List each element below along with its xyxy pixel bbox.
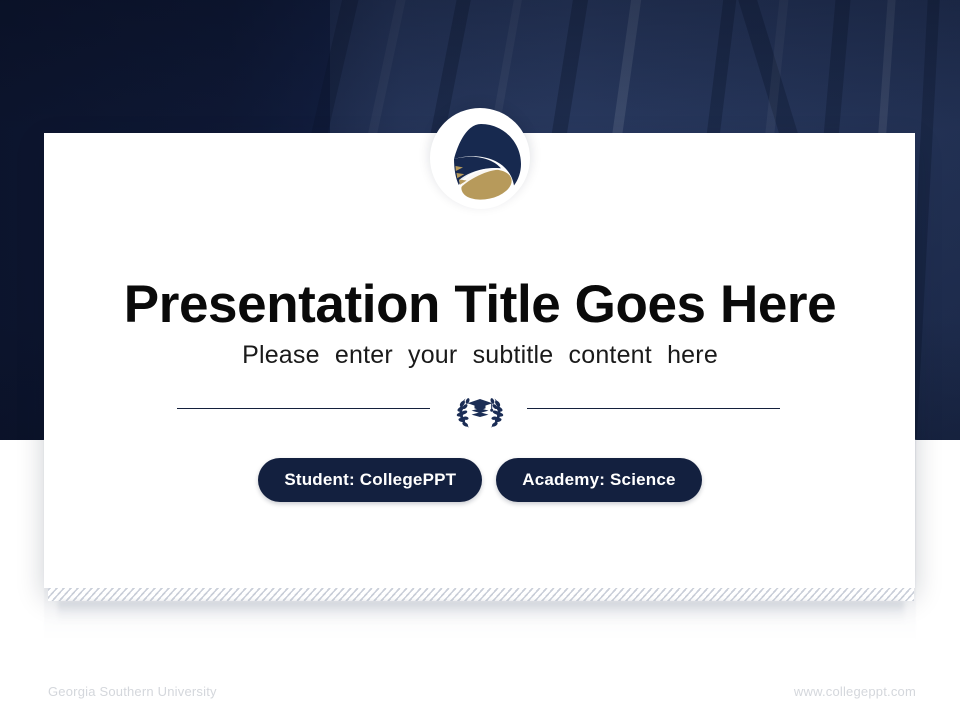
page-subtitle: Please enter your subtitle content here — [0, 340, 960, 370]
info-pill-group: Student: CollegePPT Academy: Science — [0, 458, 960, 502]
georgia-southern-eagle-logo — [435, 118, 527, 210]
hatched-accent-strip — [48, 588, 914, 601]
divider-line-right — [527, 408, 780, 409]
footer-university-name: Georgia Southern University — [48, 684, 217, 699]
graduation-cap-laurel-emblem-icon — [452, 390, 508, 430]
footer-website-url: www.collegeppt.com — [794, 684, 916, 699]
presentation-slide: Presentation Title Goes Here Please ente… — [0, 0, 960, 720]
divider-line-left — [177, 408, 430, 409]
hatched-strip-shadow — [58, 601, 904, 623]
student-pill-button[interactable]: Student: CollegePPT — [258, 458, 482, 502]
page-title: Presentation Title Goes Here — [0, 276, 960, 334]
academy-pill-button[interactable]: Academy: Science — [496, 458, 701, 502]
